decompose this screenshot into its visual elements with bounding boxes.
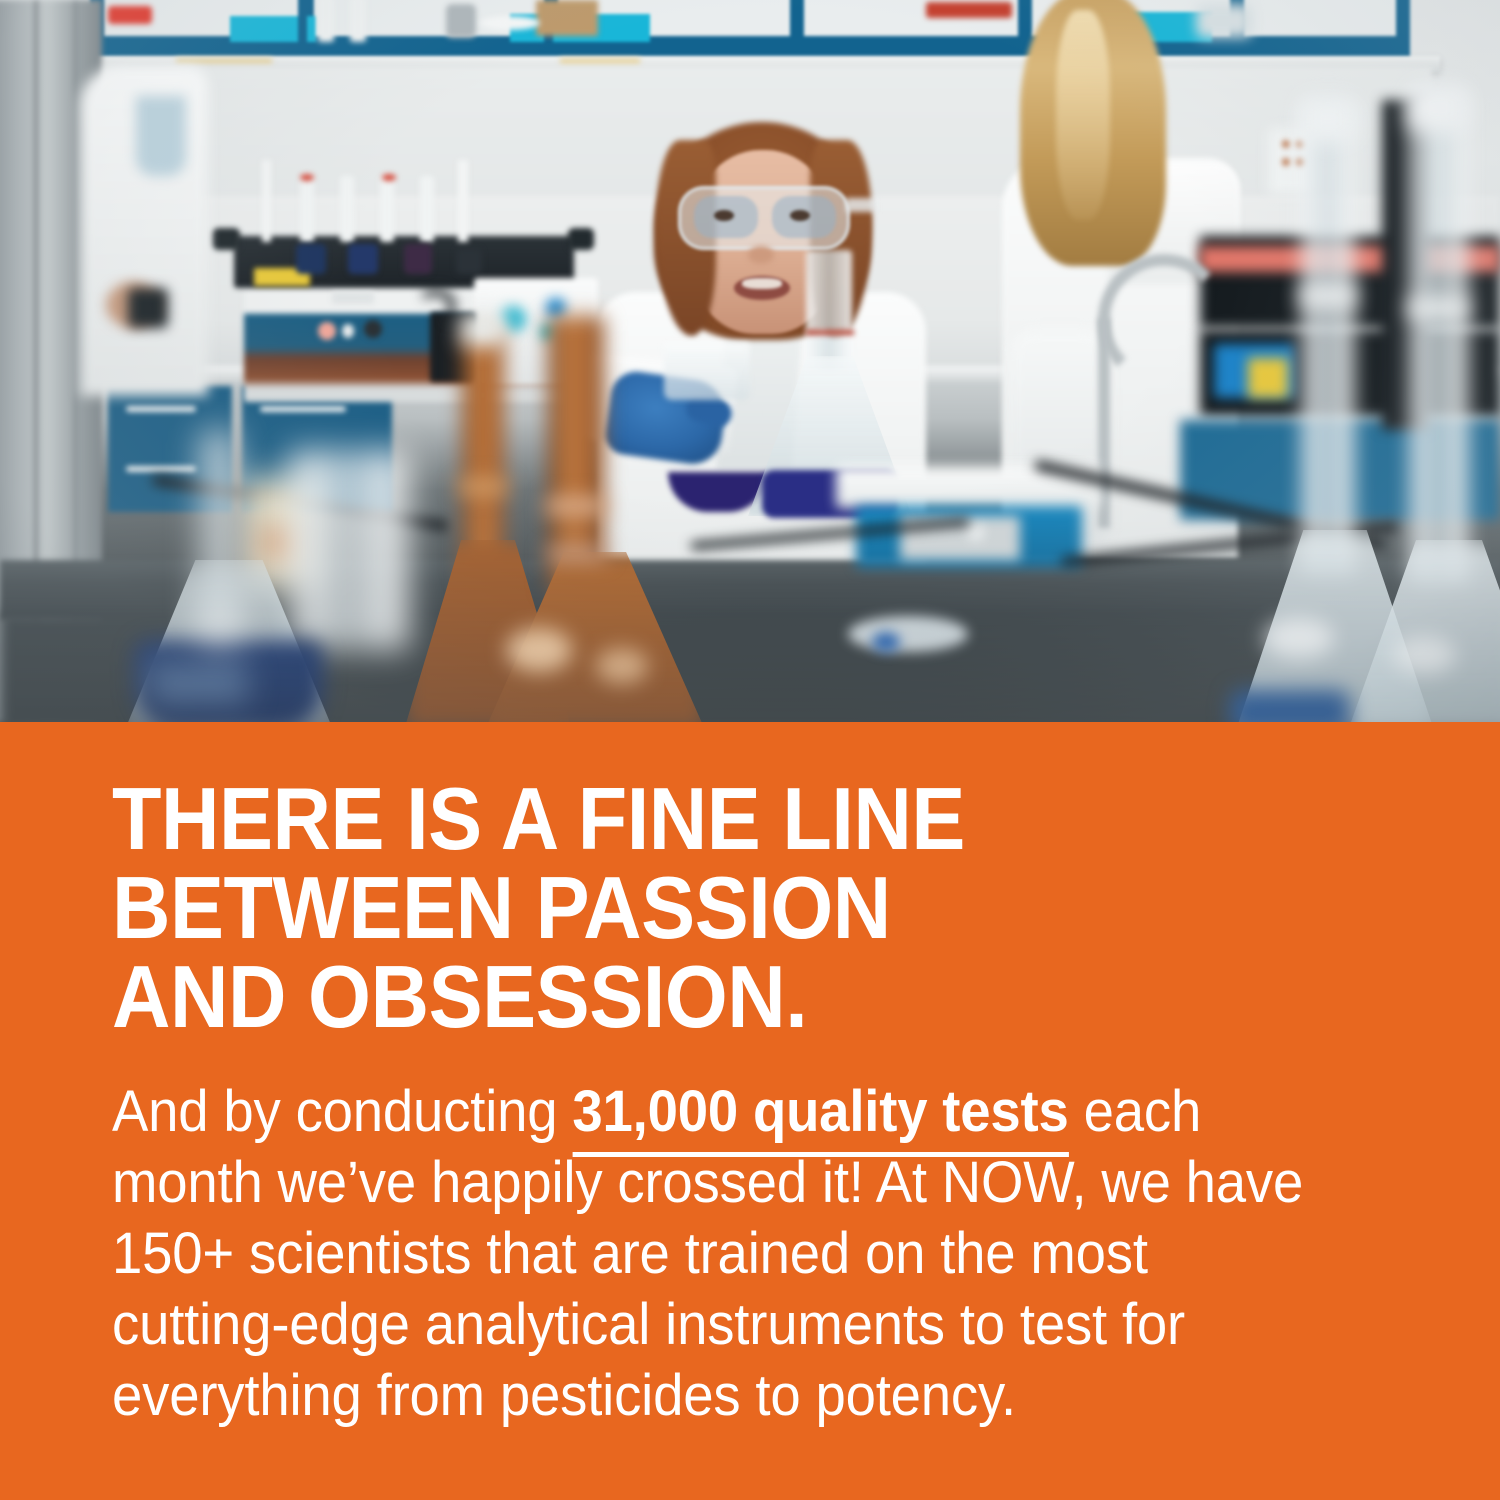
laboratory-photo: 500 [0, 0, 1500, 722]
orange-message-panel: THERE IS A FINE LINE BETWEEN PASSION AND… [0, 722, 1500, 1500]
promo-poster: 500 THERE IS A FINE LINE BETWEEN PASSION… [0, 0, 1500, 1500]
body-copy-before: And by conducting [112, 1079, 572, 1144]
body-copy: And by conducting 31,000 quality tests e… [112, 1076, 1325, 1431]
page-title: THERE IS A FINE LINE BETWEEN PASSION AND… [112, 774, 1308, 1041]
photo-depth-haze [0, 0, 1500, 722]
stat-highlight: 31,000 quality tests [572, 1079, 1068, 1157]
